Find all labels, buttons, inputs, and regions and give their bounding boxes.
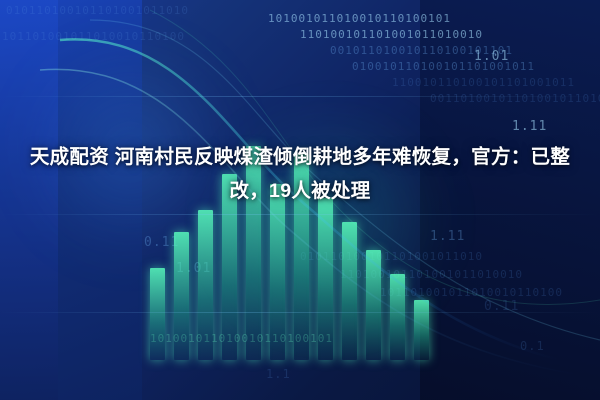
- scan-line: [0, 312, 600, 313]
- promo-banner: 010110100101101001011010 101101001011010…: [0, 0, 600, 400]
- source-tag: 天成配资: [30, 146, 115, 168]
- headline-text: 天成配资 河南村民反映煤渣倾倒耕地多年难恢复，官方：已整改，19人被处理: [0, 140, 600, 208]
- scan-line: [0, 96, 600, 97]
- headline-body: 河南村民反映煤渣倾倒耕地多年难恢复，官方：已整改，19人被处理: [115, 146, 570, 202]
- scan-line: [0, 214, 600, 215]
